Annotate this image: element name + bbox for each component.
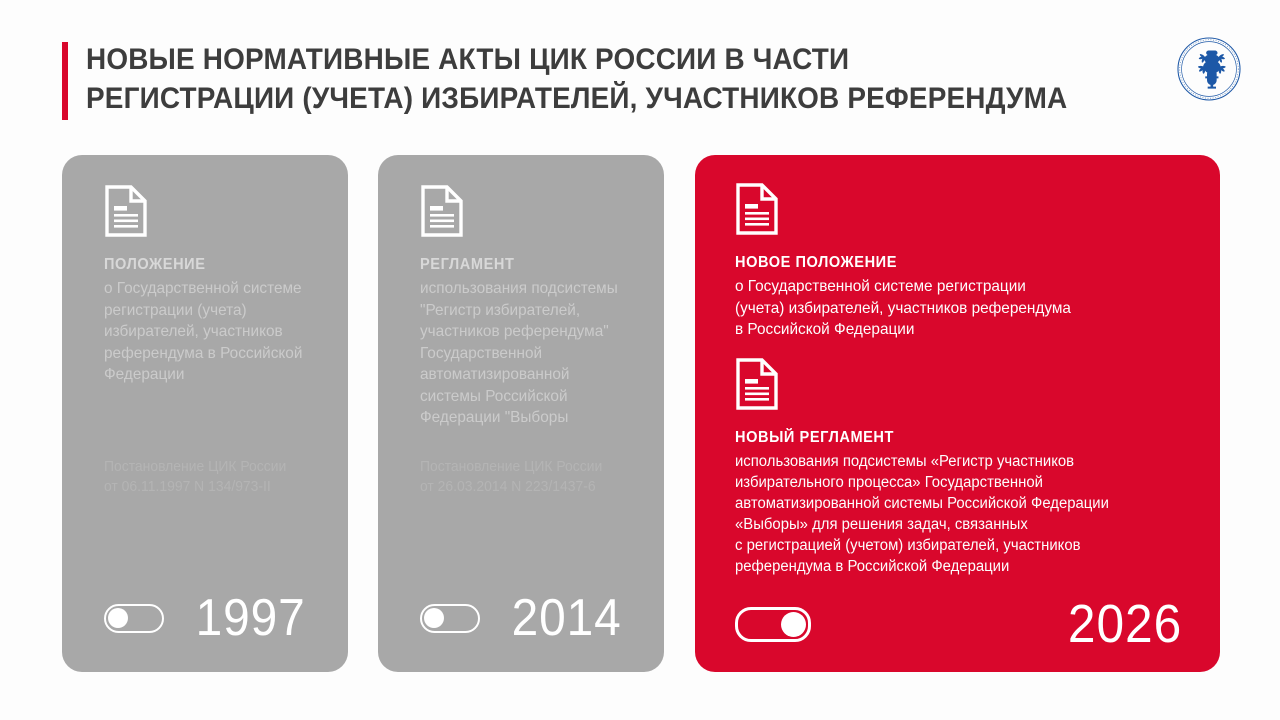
- title-accent-bar: [62, 42, 68, 120]
- card-2026-footer: 2026: [735, 598, 1182, 650]
- document-icon: [420, 185, 650, 242]
- toggle-knob: [424, 608, 444, 628]
- card-2014-year: 2014: [512, 592, 622, 644]
- card-2026-block-1: НОВОЕ ПОЛОЖЕНИЕ о Государственной систем…: [735, 183, 1165, 341]
- card-1997-description: о Государственной системе регистрации (у…: [104, 278, 315, 386]
- cec-russia-emblem: [1176, 36, 1242, 102]
- card-2014-footnote: Постановление ЦИК России от 26.03.2014 N…: [420, 457, 650, 497]
- slide-root: НОВЫЕ НОРМАТИВНЫЕ АКТЫ ЦИК РОССИИ В ЧАСТ…: [0, 0, 1280, 720]
- card-1997-kicker: ПОЛОЖЕНИЕ: [104, 256, 311, 274]
- toggle-knob: [781, 612, 806, 637]
- document-icon: [735, 358, 1185, 415]
- card-2014[interactable]: РЕГЛАМЕНТ использования подсистемы "Реги…: [378, 155, 664, 672]
- card-1997-year: 1997: [196, 592, 306, 644]
- card-1997[interactable]: ПОЛОЖЕНИЕ о Государственной системе реги…: [62, 155, 348, 672]
- card-1997-block-1: ПОЛОЖЕНИЕ о Государственной системе реги…: [104, 185, 324, 386]
- card-2026-toggle[interactable]: [735, 607, 811, 642]
- document-icon: [735, 183, 1165, 240]
- page-title-line-1: НОВЫЕ НОРМАТИВНЫЕ АКТЫ ЦИК РОССИИ В ЧАСТ…: [86, 40, 1067, 79]
- header: НОВЫЕ НОРМАТИВНЫЕ АКТЫ ЦИК РОССИИ В ЧАСТ…: [62, 40, 1122, 124]
- card-2026-description-2: использования подсистемы «Регистр участн…: [735, 451, 1167, 577]
- document-icon: [104, 185, 324, 242]
- card-1997-footer: 1997: [104, 592, 306, 644]
- page-title: НОВЫЕ НОРМАТИВНЫЕ АКТЫ ЦИК РОССИИ В ЧАСТ…: [86, 40, 1141, 118]
- toggle-knob: [108, 608, 128, 628]
- card-2026-block-2: НОВЫЙ РЕГЛАМЕНТ использования подсистемы…: [735, 358, 1185, 577]
- card-2014-footer: 2014: [420, 592, 622, 644]
- card-2014-kicker: РЕГЛАМЕНТ: [420, 256, 636, 274]
- card-2014-block-1: РЕГЛАМЕНТ использования подсистемы "Реги…: [420, 185, 650, 429]
- card-2026-kicker-1: НОВОЕ ПОЛОЖЕНИЕ: [735, 254, 1139, 272]
- card-2026-kicker-2: НОВЫЙ РЕГЛАМЕНТ: [735, 429, 1158, 447]
- card-2026[interactable]: НОВОЕ ПОЛОЖЕНИЕ о Государственной систем…: [695, 155, 1220, 672]
- card-1997-toggle[interactable]: [104, 604, 164, 633]
- page-title-line-2: РЕГИСТРАЦИИ (УЧЕТА) ИЗБИРАТЕЛЕЙ, УЧАСТНИ…: [86, 79, 1067, 118]
- card-2014-description: использования подсистемы "Регистр избира…: [420, 278, 641, 429]
- card-2014-toggle[interactable]: [420, 604, 480, 633]
- card-1997-footnote: Постановление ЦИК России от 06.11.1997 N…: [104, 457, 334, 497]
- card-2026-description-1: о Государственной системе регистрации (у…: [735, 276, 1148, 341]
- card-2026-year: 2026: [1068, 598, 1182, 650]
